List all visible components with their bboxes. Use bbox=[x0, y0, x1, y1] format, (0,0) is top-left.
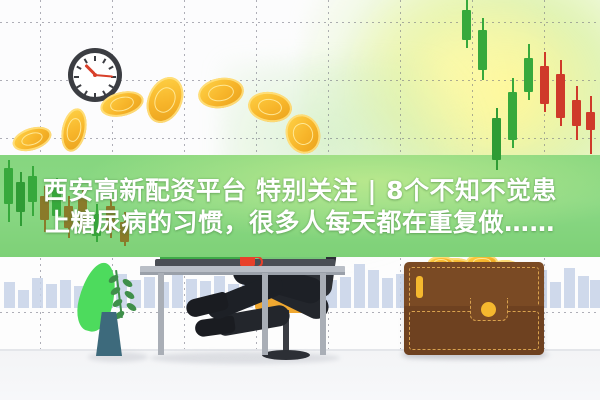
candlestick bbox=[524, 44, 533, 100]
clock-face bbox=[73, 53, 117, 97]
clock-tick bbox=[108, 84, 113, 88]
bg-bar bbox=[172, 275, 183, 308]
headline-line-1: 西安高新配资平台 特别关注 | 8个不知不觉患 bbox=[43, 176, 557, 206]
leather-wallet bbox=[404, 262, 544, 355]
bg-bar bbox=[144, 277, 155, 308]
candle-body bbox=[524, 58, 533, 92]
candlestick bbox=[508, 78, 517, 148]
bg-bar bbox=[18, 290, 29, 308]
wallet-card-strip bbox=[416, 276, 423, 298]
candlestick bbox=[540, 52, 549, 112]
clock-tick bbox=[102, 58, 106, 63]
bg-bar bbox=[564, 268, 575, 308]
bg-bar bbox=[340, 277, 351, 308]
clock-tick bbox=[102, 90, 106, 95]
candle-body bbox=[462, 10, 471, 40]
candlestick bbox=[556, 60, 565, 126]
candle-body bbox=[540, 66, 549, 104]
desk-leg-left bbox=[158, 273, 164, 355]
headline-text: 西安高新配资平台 特别关注 | 8个不知不觉患 上糖尿病的习惯，很多人每天都在重… bbox=[0, 158, 600, 256]
bg-bar bbox=[590, 280, 600, 308]
clock-tick bbox=[74, 76, 79, 78]
chair-base bbox=[262, 350, 310, 360]
wallet-snap-button bbox=[481, 302, 496, 317]
clock-tick bbox=[108, 66, 113, 70]
bg-bar bbox=[382, 278, 393, 308]
desk-leg-right bbox=[320, 273, 326, 355]
candle-body bbox=[572, 100, 581, 126]
clock-tick bbox=[84, 90, 88, 95]
bg-bar bbox=[354, 264, 365, 308]
candlestick bbox=[586, 96, 595, 154]
candlestick bbox=[462, 0, 471, 48]
desk-leg-mid bbox=[262, 273, 268, 355]
desk-shadow bbox=[150, 352, 340, 364]
desk-top-shade bbox=[140, 272, 345, 275]
bg-bar bbox=[32, 278, 43, 308]
headline-line-2: 上糖尿病的习惯，很多人每天都在重复做…… bbox=[45, 208, 555, 238]
clock-tick bbox=[94, 93, 96, 98]
clock-tick bbox=[94, 56, 96, 61]
bg-bar bbox=[60, 280, 71, 308]
candlestick bbox=[572, 86, 581, 140]
candle-body bbox=[556, 74, 565, 118]
bg-bar bbox=[4, 282, 15, 308]
banner-image: 西安高新配资平台 特别关注 | 8个不知不觉患 上糖尿病的习惯，很多人每天都在重… bbox=[0, 0, 600, 400]
bg-bar bbox=[368, 270, 379, 308]
clock-center-pin bbox=[93, 73, 97, 77]
grid-line-horizontal bbox=[0, 22, 600, 23]
candle-body bbox=[586, 112, 595, 130]
candle-body bbox=[492, 118, 501, 160]
candle-body bbox=[508, 92, 517, 140]
candlestick bbox=[478, 18, 487, 80]
bg-bar bbox=[550, 282, 561, 308]
candle-body bbox=[478, 30, 487, 70]
bg-bar bbox=[46, 284, 57, 308]
bg-bar bbox=[578, 276, 589, 308]
clock-minute-hand bbox=[95, 74, 113, 78]
clock-tick bbox=[76, 84, 81, 88]
clock-tick bbox=[76, 66, 81, 70]
